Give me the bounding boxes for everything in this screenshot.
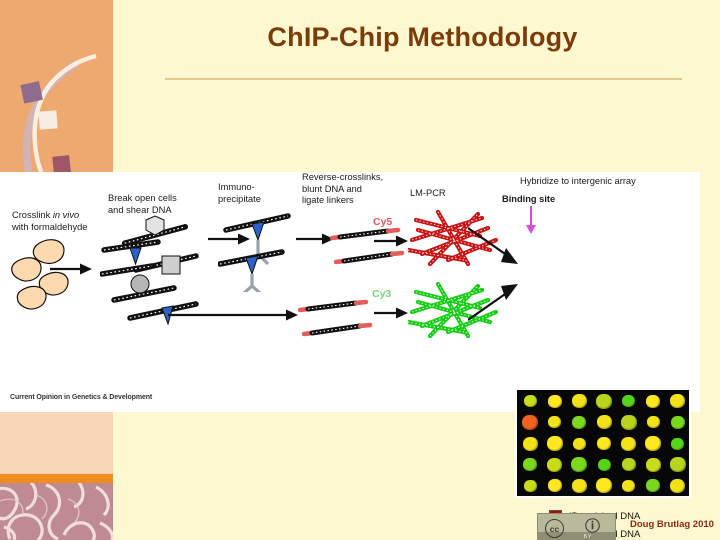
array-spot bbox=[572, 394, 587, 408]
array-spot bbox=[547, 458, 562, 472]
array-spot-binding-site bbox=[522, 415, 538, 430]
step-label-lm-pcr: LM-PCR bbox=[410, 188, 470, 200]
microarray-image bbox=[515, 388, 691, 498]
array-spot bbox=[670, 479, 685, 493]
array-spot bbox=[622, 458, 636, 471]
array-spot bbox=[571, 457, 587, 472]
array-spot bbox=[597, 415, 612, 429]
array-spot bbox=[547, 436, 563, 451]
figure-source-caption: Current Opinion in Genetics & Developmen… bbox=[10, 394, 152, 401]
arrow-cy3-to-pcr bbox=[374, 306, 408, 320]
array-spot bbox=[572, 479, 587, 493]
array-spot bbox=[597, 437, 611, 450]
array-spot bbox=[524, 395, 537, 407]
array-spot bbox=[646, 479, 660, 492]
array-spot bbox=[596, 478, 612, 493]
arrow-red-to-array bbox=[468, 224, 522, 268]
array-spot bbox=[621, 415, 637, 430]
attribution-icon: ⓘ bbox=[585, 518, 600, 533]
array-spot bbox=[646, 458, 661, 472]
array-spot bbox=[671, 438, 684, 450]
array-spot bbox=[572, 416, 586, 429]
author-credit: Doug Brutlag 2010 bbox=[630, 519, 714, 530]
step-label-reverse-crosslink: Reverse-crosslinks, blunt DNA and ligate… bbox=[302, 172, 407, 207]
dye-label-cy5: Cy5 bbox=[373, 216, 392, 228]
array-spot bbox=[646, 395, 660, 408]
array-spot bbox=[670, 394, 685, 408]
array-spot bbox=[548, 395, 562, 408]
array-spot bbox=[598, 459, 611, 471]
dye-label-cy3: Cy3 bbox=[372, 288, 391, 300]
sidebar-orange-stripe bbox=[0, 474, 113, 483]
array-spot bbox=[645, 436, 661, 451]
immunoprecipitate-illustration bbox=[218, 202, 298, 292]
array-spot bbox=[671, 416, 685, 429]
arrow-ip-to-reverse bbox=[296, 232, 334, 246]
cc-by-label: BY bbox=[560, 534, 616, 540]
array-spot bbox=[548, 416, 561, 428]
step-label-hybridize: Hybridize to intergenic array bbox=[520, 176, 690, 188]
arrow-bypass-unenriched bbox=[168, 308, 298, 322]
array-spot bbox=[573, 438, 586, 450]
sidebar-peach-band bbox=[0, 412, 113, 474]
creative-commons-badge[interactable]: cc ⓘ BY bbox=[537, 513, 616, 540]
sidebar-decoration bbox=[0, 0, 113, 172]
sidebar-paisley-pattern bbox=[0, 483, 113, 540]
slide-title: ChIP-Chip Methodology bbox=[150, 22, 695, 53]
array-spot bbox=[622, 395, 635, 407]
array-spot bbox=[596, 394, 612, 409]
figure-panel: Crosslink in vivowith formaldehyde Break… bbox=[0, 172, 700, 412]
array-spot bbox=[524, 480, 537, 492]
title-divider bbox=[165, 78, 682, 80]
binding-site-label: Binding site bbox=[502, 194, 592, 206]
arrow-crosslink-to-shear bbox=[50, 262, 92, 276]
array-spot bbox=[523, 458, 537, 471]
arrow-cy5-to-pcr bbox=[374, 234, 408, 248]
array-spot bbox=[670, 457, 686, 472]
array-spot bbox=[647, 416, 660, 428]
array-spot bbox=[548, 479, 562, 492]
array-spot bbox=[621, 437, 636, 451]
array-spot bbox=[523, 437, 538, 451]
array-spot bbox=[622, 480, 635, 492]
arrow-green-to-array bbox=[468, 280, 522, 324]
slide-canvas: ChIP-Chip Methodology Crosslink in vivow… bbox=[0, 0, 720, 540]
binding-site-arrow bbox=[523, 206, 539, 234]
